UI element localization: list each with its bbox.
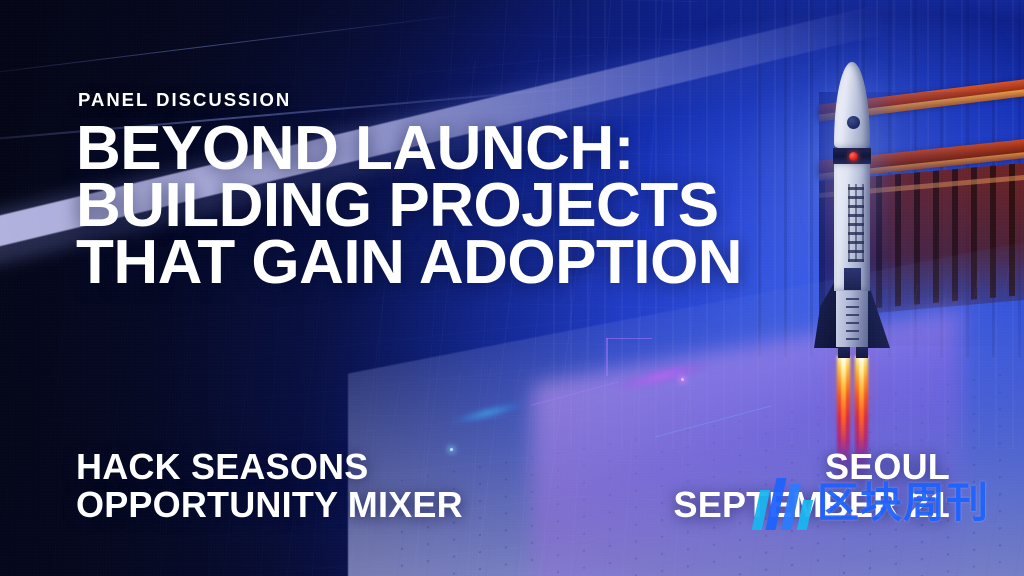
rocket-red-dot <box>849 152 858 161</box>
logo-bar <box>797 500 813 530</box>
rocket-nozzle <box>838 346 850 358</box>
watermark-text: 区块周刊 <box>817 482 989 524</box>
rocket-icon <box>816 62 888 382</box>
magenta-glow <box>596 350 729 401</box>
blockchain-weekly-logo-icon <box>756 476 808 530</box>
rocket-flame-core <box>841 356 846 452</box>
rocket-flame-core <box>859 356 864 452</box>
eyebrow-label: PANEL DISCUSSION <box>78 89 291 111</box>
cyan-glow <box>436 393 540 434</box>
rocket-porthole <box>847 116 860 129</box>
circuit-line <box>606 338 608 376</box>
event-name: HACK SEASONS OPPORTUNITY MIXER <box>76 448 463 524</box>
circuit-line <box>606 338 652 339</box>
page-title: BEYOND LAUNCH: BUILDING PROJECTS THAT GA… <box>76 120 742 291</box>
rocket-ladder-detail <box>846 296 859 340</box>
circuit-spark <box>681 378 684 381</box>
event-poster: PANEL DISCUSSION BEYOND LAUNCH: BUILDING… <box>0 0 1024 576</box>
rocket-body-panel <box>844 268 861 290</box>
watermark: 区块周刊 <box>756 476 989 530</box>
rocket-body-markings <box>848 184 864 262</box>
circuit-line <box>655 405 771 437</box>
rocket-nozzle <box>856 346 868 358</box>
